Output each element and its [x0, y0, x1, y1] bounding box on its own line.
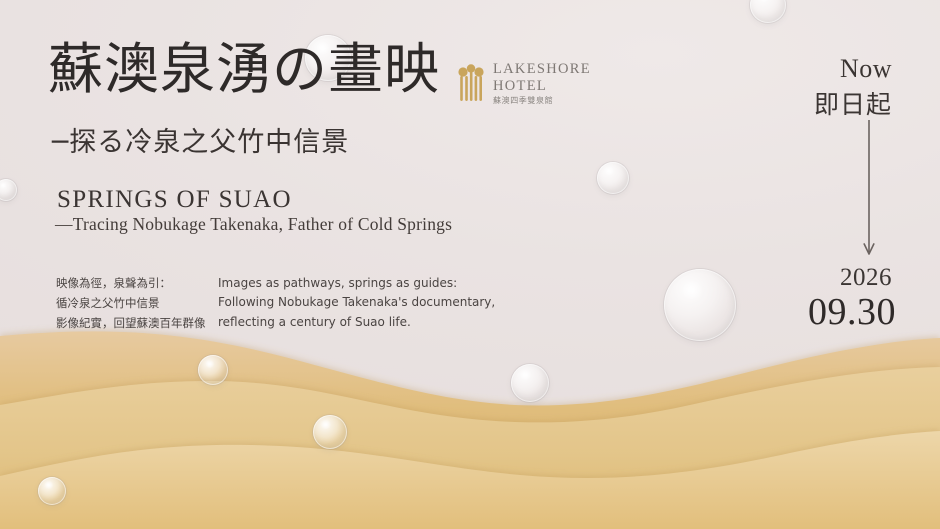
body-line-zh-2: 循冷泉之父竹中信景 — [56, 293, 206, 313]
date-monthday: 09.30 — [808, 290, 896, 334]
subheadline-english: —Tracing Nobukage Takenaka, Father of Co… — [55, 214, 452, 235]
body-line-zh-1: 映像為徑，泉聲為引： — [56, 273, 206, 293]
body-line-en-2: Following Nobukage Takenaka's documentar… — [218, 293, 495, 312]
body-line-en-1: Images as pathways, springs as guides: — [218, 274, 495, 293]
bubble — [597, 162, 629, 194]
lakeshore-logo-icon — [456, 63, 486, 105]
lakeshore-hotel-logo: LAKESHORE HOTEL 蘇澳四季雙泉館 — [456, 62, 591, 105]
bubble — [664, 269, 736, 341]
bubble — [38, 477, 66, 505]
subheadline-chinese: ─探る冷泉之父竹中信景 — [52, 120, 349, 159]
headline-chinese: 蘇澳泉湧の畫映 — [48, 39, 440, 101]
bubble — [511, 364, 549, 402]
poster-canvas: 蘇澳泉湧の畫映 ─探る冷泉之父竹中信景 LAKESHORE HOTEL 蘇澳四季… — [0, 0, 940, 529]
date-year: 2026 — [840, 264, 892, 292]
body-line-zh-3: 影像紀實，回望蘇澳百年群像 — [56, 313, 206, 333]
logo-name-line2: HOTEL — [493, 79, 591, 94]
bubble — [313, 415, 347, 449]
downward-arrow-icon — [860, 120, 878, 262]
body-line-en-3: reflecting a century of Suao life. — [218, 313, 495, 332]
body-text-chinese: 映像為徑，泉聲為引： 循冷泉之父竹中信景 影像紀實，回望蘇澳百年群像 — [56, 273, 206, 333]
headline-english: SPRINGS OF SUAO — [57, 186, 292, 214]
date-now-english: Now — [840, 54, 892, 84]
logo-name-line1: LAKESHORE — [493, 62, 591, 77]
date-now-chinese: 即日起 — [814, 85, 892, 121]
body-text-english: Images as pathways, springs as guides: F… — [218, 274, 495, 332]
logo-name-chinese: 蘇澳四季雙泉館 — [493, 97, 591, 105]
bubble — [198, 355, 228, 385]
sand-dunes-graphic — [0, 309, 940, 529]
